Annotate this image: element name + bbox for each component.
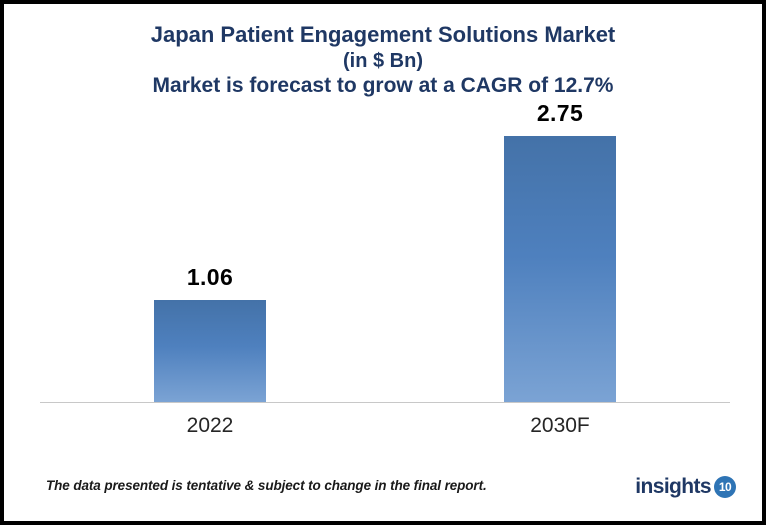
chart-cagr-note: Market is forecast to grow at a CAGR of … [4, 73, 762, 99]
bar-group-2022: 1.06 [154, 300, 266, 402]
chart-title-block: Japan Patient Engagement Solutions Marke… [4, 22, 762, 99]
chart-frame: Japan Patient Engagement Solutions Marke… [0, 0, 766, 525]
x-tick-label-2030f: 2030F [470, 414, 650, 438]
bar-value-label-2022: 1.06 [154, 264, 266, 291]
plot-area: 1.06 2.75 [40, 112, 730, 402]
chart-canvas: Japan Patient Engagement Solutions Marke… [4, 4, 762, 521]
insights10-logo: insights 10 [635, 474, 736, 500]
bar-2030f[interactable] [504, 136, 616, 402]
logo-badge-icon: 10 [714, 476, 736, 498]
disclaimer-text: The data presented is tentative & subjec… [46, 478, 487, 493]
bar-2022[interactable] [154, 300, 266, 402]
bar-group-2030f: 2.75 [504, 136, 616, 402]
chart-subtitle: (in $ Bn) [4, 49, 762, 73]
bar-value-label-2030f: 2.75 [504, 100, 616, 127]
x-tick-label-2022: 2022 [120, 414, 300, 438]
page-title: Japan Patient Engagement Solutions Marke… [4, 22, 762, 49]
x-axis-tick-labels: 2022 2030F [40, 414, 730, 448]
logo-wordmark: insights [635, 475, 711, 499]
x-axis-line [40, 402, 730, 403]
